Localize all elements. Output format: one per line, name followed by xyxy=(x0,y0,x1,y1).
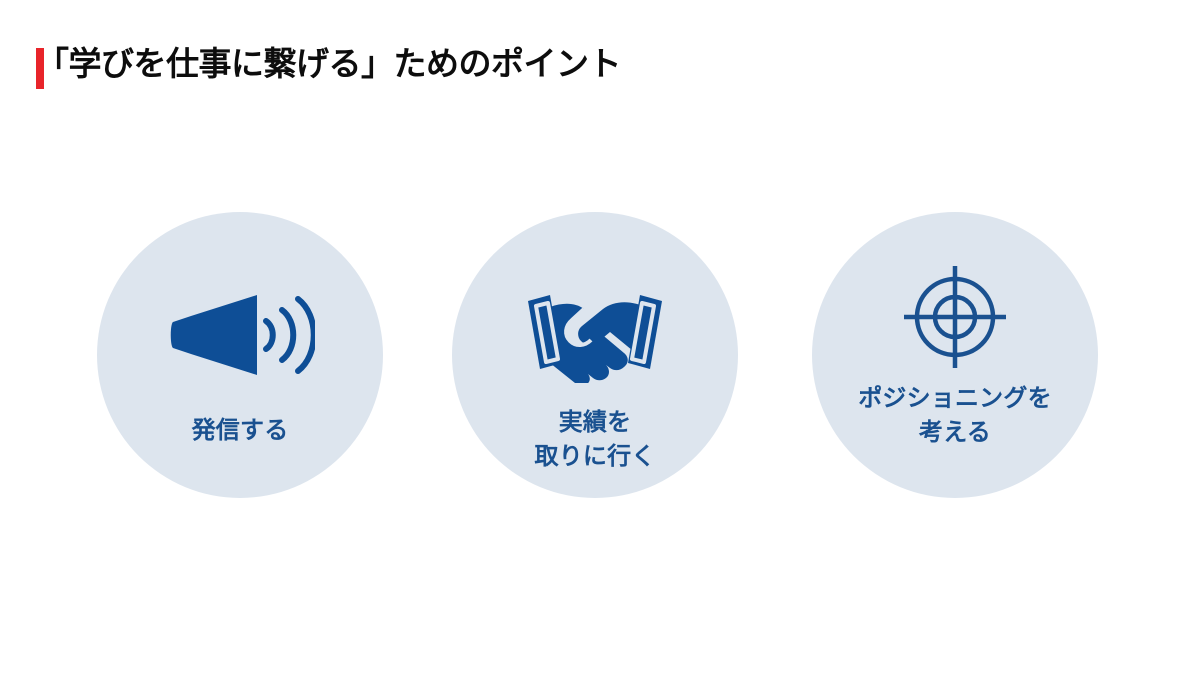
point-card-3[interactable]: ポジショニングを 考える xyxy=(812,212,1098,498)
target-crosshair-icon xyxy=(899,258,1011,376)
point-label-2: 実績を 取りに行く xyxy=(535,406,656,474)
slide-canvas: 「学びを仕事に繋げる」ためのポイント 発信する xyxy=(0,0,1200,675)
handshake-icon xyxy=(520,270,670,400)
point-label-1: 発信する xyxy=(192,414,289,448)
points-row: 発信する xyxy=(0,212,1200,502)
page-title: 「学びを仕事に繋げる」ためのポイント xyxy=(36,42,630,89)
megaphone-icon xyxy=(165,270,315,400)
title-text: 「学びを仕事に繋げる」ためのポイント xyxy=(36,42,621,86)
point-card-1[interactable]: 発信する xyxy=(97,212,383,498)
point-card-2[interactable]: 実績を 取りに行く xyxy=(452,212,738,498)
point-label-3: ポジショニングを 考える xyxy=(858,382,1052,450)
